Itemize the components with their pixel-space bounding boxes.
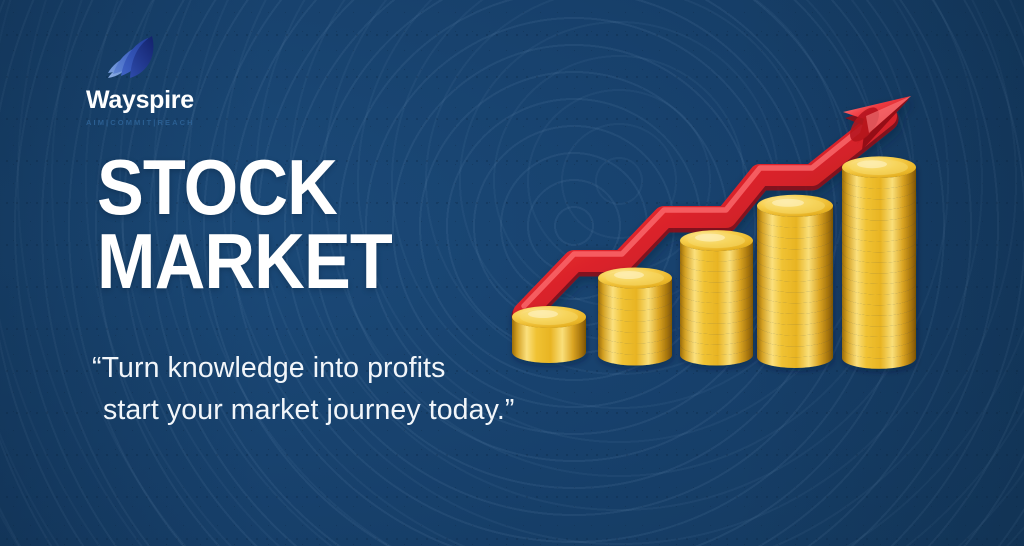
page-title: STOCK MARKET	[97, 150, 392, 298]
wayspire-wing-logo-icon	[100, 34, 162, 86]
headline-line-2: MARKET	[97, 224, 392, 298]
brand-tagline: AIM|COMMIT|REACH	[86, 118, 296, 127]
banner-canvas: Wayspire AIM|COMMIT|REACH STOCK MARKET “…	[0, 0, 1024, 546]
quote-line-2: start your market journey today.”	[92, 390, 514, 432]
tagline-quote: “Turn knowledge into profits start your …	[92, 348, 514, 431]
brand-logo[interactable]: Wayspire AIM|COMMIT|REACH	[86, 34, 296, 127]
quote-line-1: “Turn knowledge into profits	[92, 352, 445, 384]
brand-name: Wayspire	[86, 88, 296, 113]
